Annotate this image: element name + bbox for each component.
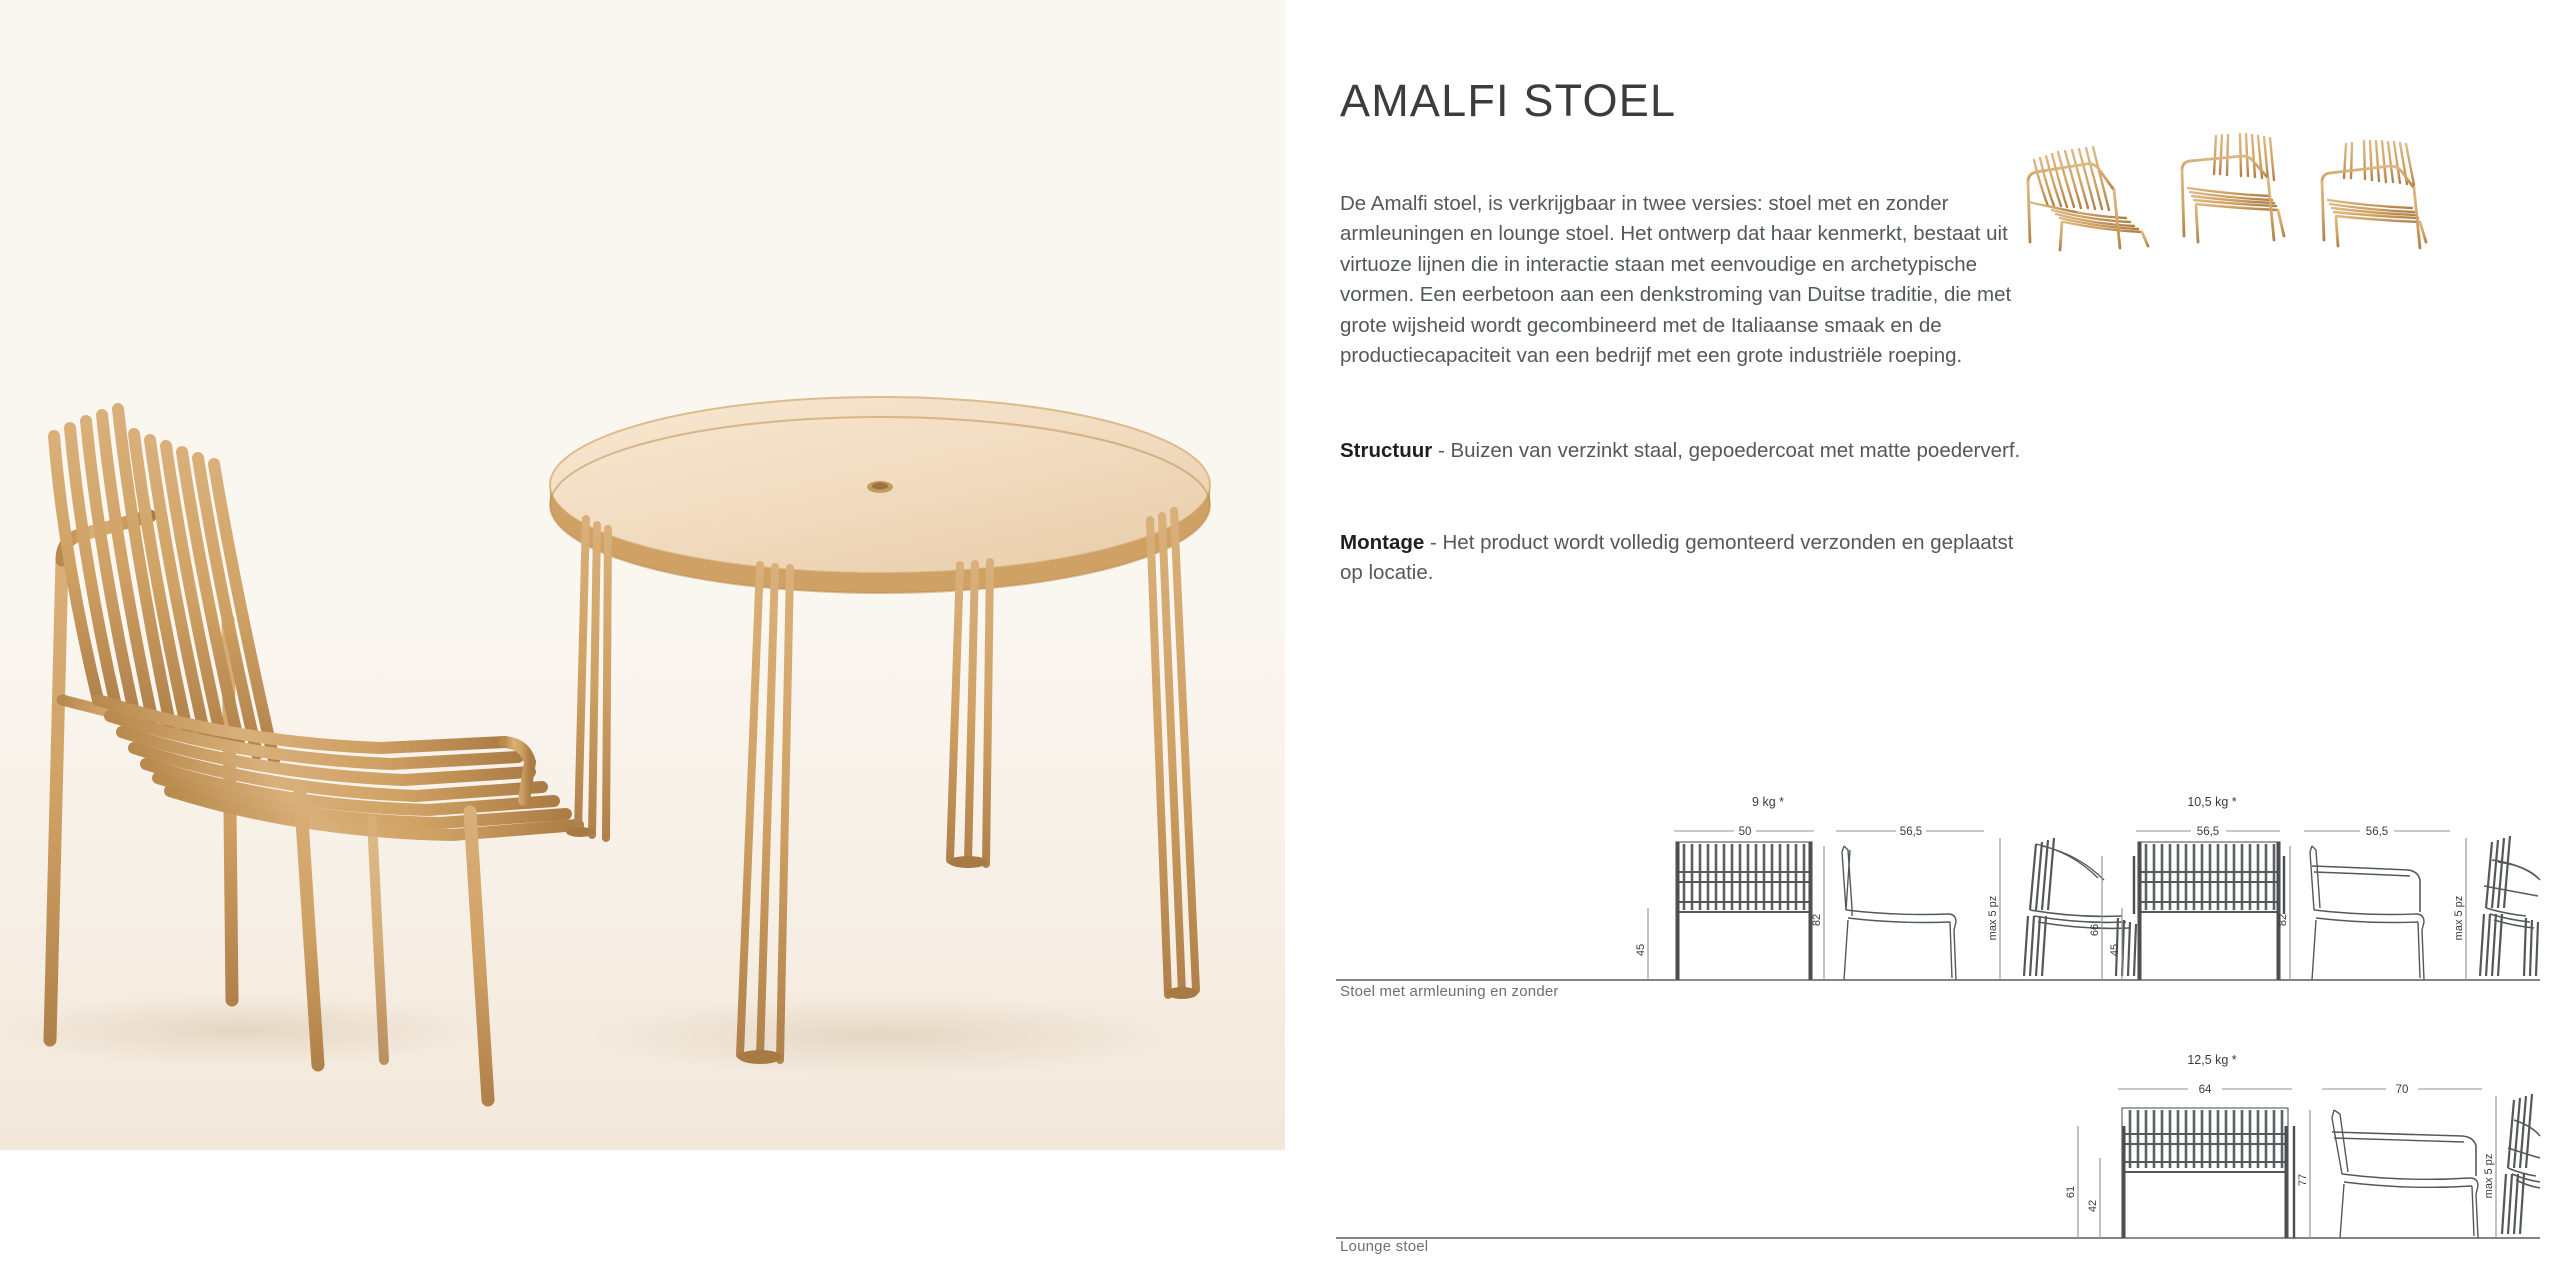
- hero-illustration: [0, 0, 1285, 1150]
- side-view-chair-a: [1842, 846, 1956, 980]
- stack-label-b: max 5 pz: [2453, 896, 2465, 941]
- trio-armchair: [2182, 134, 2284, 242]
- right-column: AMALFI STOEL De Amalfi stoel, is verkrij…: [1336, 0, 2544, 1268]
- chair-graphic: [50, 409, 578, 1100]
- height-label-c-61: 61: [2065, 1186, 2077, 1198]
- width-label-b-front: 56,5: [2197, 826, 2219, 838]
- trio-product-photo: [2016, 130, 2546, 255]
- tech-caption-chairs: Stoel met armleuning en zonder: [1340, 983, 1559, 1000]
- group-chair-armrest: 10,5 kg * 56,5 66 45: [2089, 795, 2540, 980]
- group-lounge-chair: 12,5 kg * 64 61 42: [2065, 1053, 2540, 1238]
- stacked-view-lounge: [2502, 1094, 2540, 1234]
- group-chair-no-armrest: 9 kg * 50 45: [1635, 795, 2136, 980]
- weight-label-b: 10,5 kg *: [2187, 795, 2236, 809]
- side-view-chair-b: [2310, 846, 2424, 980]
- height-label-a-82: 82: [1811, 914, 1823, 926]
- height-label-c-42: 42: [2087, 1200, 2099, 1212]
- spec-structuur-separator: -: [1432, 439, 1450, 462]
- page-title: AMALFI STOEL: [1340, 75, 1676, 127]
- tech-drawing-lounge-svg: 12,5 kg * 64 61 42: [1336, 1048, 2544, 1263]
- product-description: De Amalfi stoel, is verkrijgbaar in twee…: [1340, 189, 2030, 372]
- spec-structuur-label: Structuur: [1340, 439, 1432, 462]
- trio-side-chair: [2322, 141, 2426, 248]
- height-label-c-77: 77: [2297, 1174, 2309, 1186]
- height-label-b-82: 82: [2277, 914, 2289, 926]
- width-label-b-side: 56,5: [2366, 826, 2388, 838]
- hero-product-photo: [0, 0, 1285, 1150]
- height-label-b-45: 45: [2109, 944, 2121, 956]
- spec-montage: Montage - Het product wordt volledig gem…: [1340, 528, 2030, 589]
- stacked-view-chair-b: [2480, 836, 2540, 976]
- weight-label-c: 12,5 kg *: [2187, 1053, 2236, 1067]
- stack-label-a: max 5 pz: [1987, 896, 1999, 941]
- trio-lounge-chair: [2028, 147, 2148, 250]
- spec-structuur: Structuur - Buizen van verzinkt staal, g…: [1340, 436, 2030, 467]
- front-view-chair-a: [1676, 842, 1812, 980]
- height-label-b-66: 66: [2089, 924, 2101, 936]
- width-label-a-side: 56,5: [1900, 826, 1922, 838]
- spec-montage-separator: -: [1424, 531, 1442, 554]
- tech-drawing-chairs-svg: 9 kg * 50 45: [1336, 790, 2544, 1005]
- side-view-lounge: [2332, 1110, 2478, 1238]
- spec-structuur-text: Buizen van verzinkt staal, gepoedercoat …: [1450, 439, 2020, 462]
- height-label-a-45: 45: [1635, 944, 1647, 956]
- stack-label-c: max 5 pz: [2483, 1154, 2495, 1199]
- tech-drawing-row-chairs: 9 kg * 50 45: [1336, 790, 2544, 1005]
- width-label-c-front: 64: [2199, 1084, 2212, 1096]
- width-label-c-side: 70: [2396, 1084, 2409, 1096]
- table-graphic: [550, 397, 1210, 1064]
- front-view-lounge: [2122, 1108, 2294, 1238]
- front-view-chair-b: [2134, 842, 2284, 980]
- product-datasheet-page: AMALFI STOEL De Amalfi stoel, is verkrij…: [0, 0, 2560, 1268]
- weight-label-a: 9 kg *: [1752, 795, 1784, 809]
- width-label-a-front: 50: [1739, 826, 1752, 838]
- tech-drawing-row-lounge: 12,5 kg * 64 61 42: [1336, 1048, 2544, 1263]
- tech-caption-lounge: Lounge stoel: [1340, 1238, 1428, 1255]
- trio-illustration: [2016, 130, 2546, 255]
- spec-montage-label: Montage: [1340, 531, 1424, 554]
